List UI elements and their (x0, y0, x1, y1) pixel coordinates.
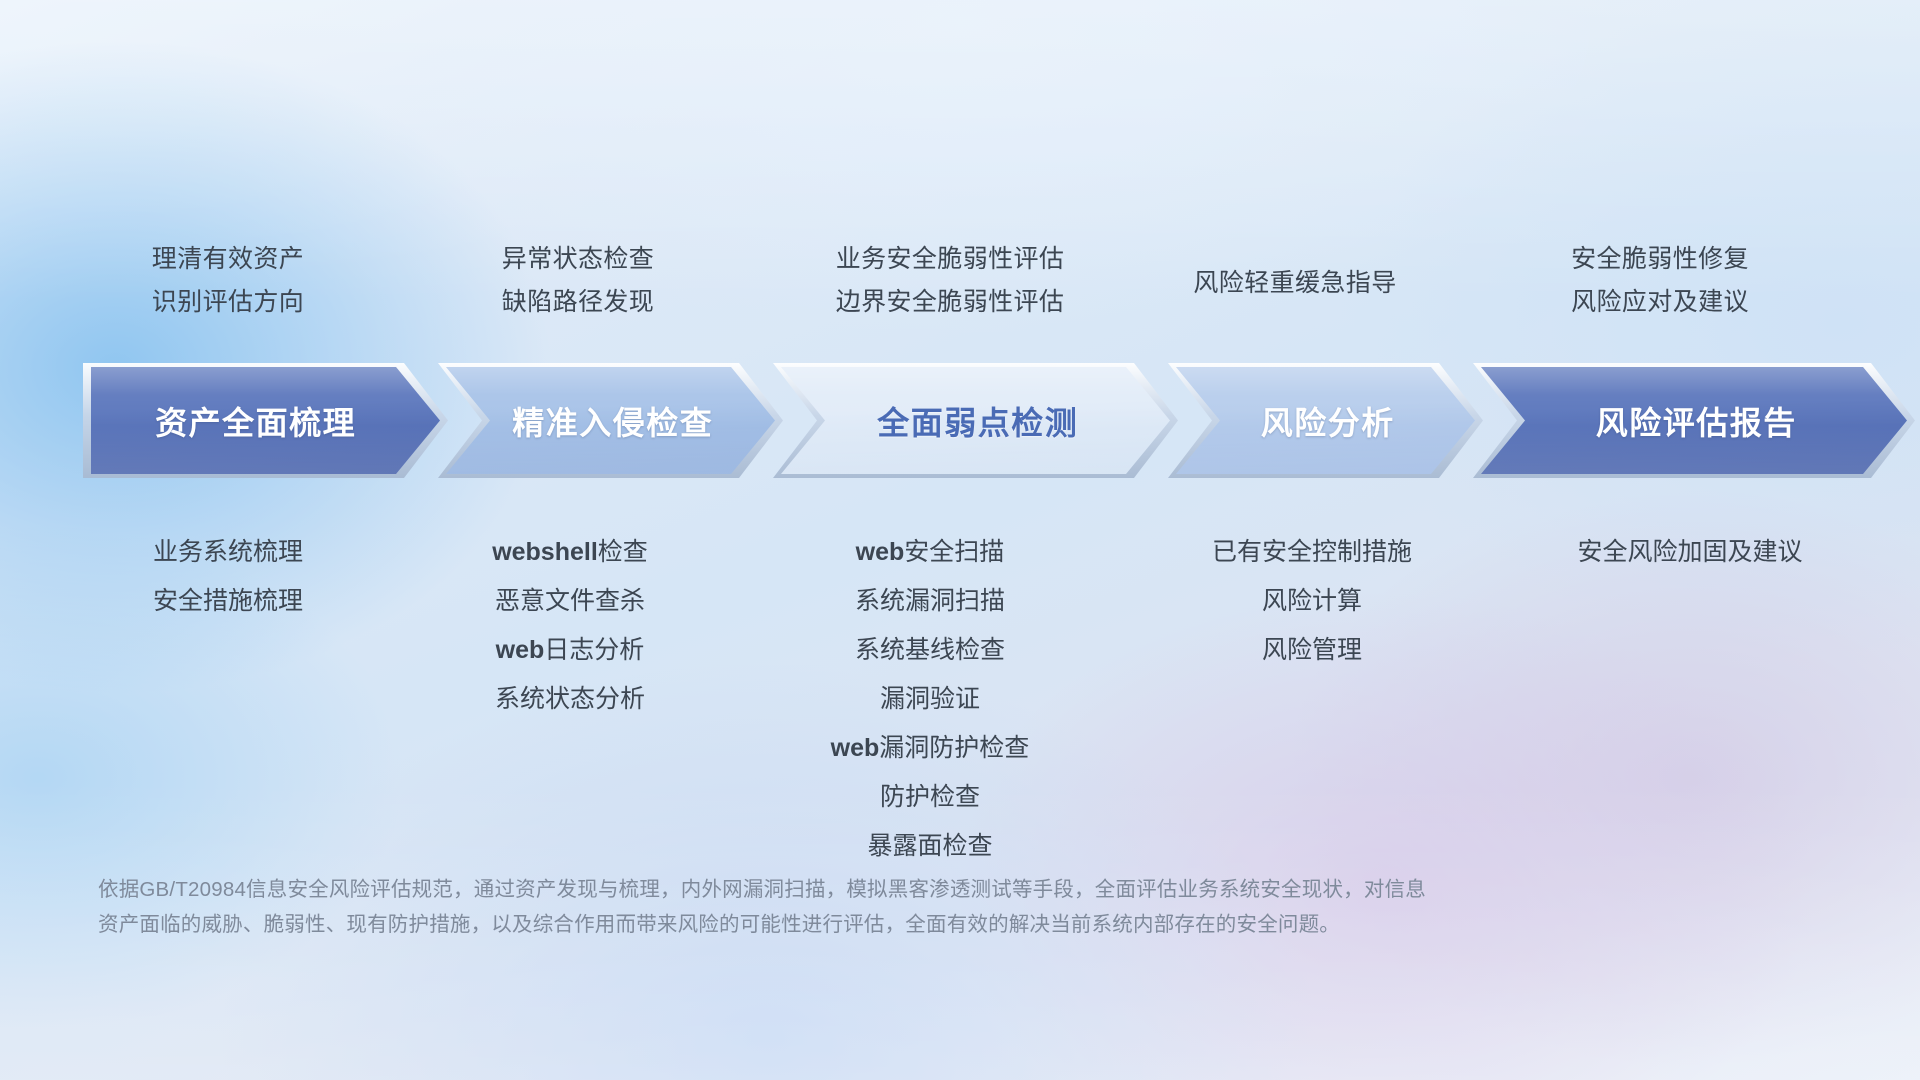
bottom-caption-item: 安全风险加固及建议 (1420, 528, 1920, 577)
stage-label-asset-inventory: 资产全面梳理 (91, 398, 440, 444)
bottom-caption-item: 防护检查 (660, 773, 1200, 822)
bottom-caption-item: 风险管理 (1042, 626, 1582, 675)
footer-line-1: 依据GB/T20984信息安全风险评估规范，通过资产发现与梳理，内外网漏洞扫描，… (98, 872, 1658, 907)
stage-chevron-risk-report[interactable]: 风险评估报告 (1481, 367, 1907, 474)
stage-label-intrusion-check: 精准入侵检查 (446, 398, 775, 444)
bottom-caption-risk-report: 安全风险加固及建议 (1420, 528, 1920, 577)
stage-chevron-risk-analysis[interactable]: 风险分析 (1176, 367, 1475, 474)
bottom-caption-item: web漏洞防护检查 (660, 724, 1200, 773)
top-caption-risk-report: 安全脆弱性修复风险应对及建议 (1410, 238, 1910, 324)
emphasis-token: web (496, 636, 545, 664)
bottom-captions-row: 业务系统梳理安全措施梳理webshell检查恶意文件查杀web日志分析系统状态分… (0, 490, 1920, 850)
stage-chevron-asset-inventory[interactable]: 资产全面梳理 (91, 367, 440, 474)
stage-chevron-band: 资产全面梳理精准入侵检查全面弱点检测风险分析风险评估报告 (88, 367, 1910, 474)
stage-chevron-weakness-detection[interactable]: 全面弱点检测 (781, 367, 1170, 474)
process-diagram: 理清有效资产识别评估方向异常状态检查缺陷路径发现业务安全脆弱性评估边界安全脆弱性… (0, 0, 1920, 1080)
caption-rest: 安全扫描 (904, 538, 1004, 566)
caption-rest: 日志分析 (544, 636, 644, 664)
footer-description: 依据GB/T20984信息安全风险评估规范，通过资产发现与梳理，内外网漏洞扫描，… (98, 872, 1658, 943)
bottom-caption-item: 漏洞验证 (660, 675, 1200, 724)
emphasis-token: web (831, 734, 880, 762)
caption-rest: 漏洞防护检查 (879, 734, 1029, 762)
stage-chevron-intrusion-check[interactable]: 精准入侵检查 (446, 367, 775, 474)
stage-label-risk-report: 风险评估报告 (1481, 398, 1907, 444)
top-captions-row: 理清有效资产识别评估方向异常状态检查缺陷路径发现业务安全脆弱性评估边界安全脆弱性… (0, 0, 1920, 360)
top-caption-item: 风险应对及建议 (1410, 281, 1910, 324)
emphasis-token: web (856, 538, 905, 566)
emphasis-token: webshell (492, 538, 598, 566)
caption-rest: 检查 (598, 538, 648, 566)
stage-label-risk-analysis: 风险分析 (1176, 398, 1475, 444)
stage-label-weakness-detection: 全面弱点检测 (781, 398, 1170, 444)
bottom-caption-item: 风险计算 (1042, 577, 1582, 626)
bottom-caption-item: 暴露面检查 (660, 822, 1200, 871)
footer-line-2: 资产面临的威胁、脆弱性、现有防护措施，以及综合作用而带来风险的可能性进行评估，全… (98, 907, 1658, 942)
top-caption-item: 安全脆弱性修复 (1410, 238, 1910, 281)
